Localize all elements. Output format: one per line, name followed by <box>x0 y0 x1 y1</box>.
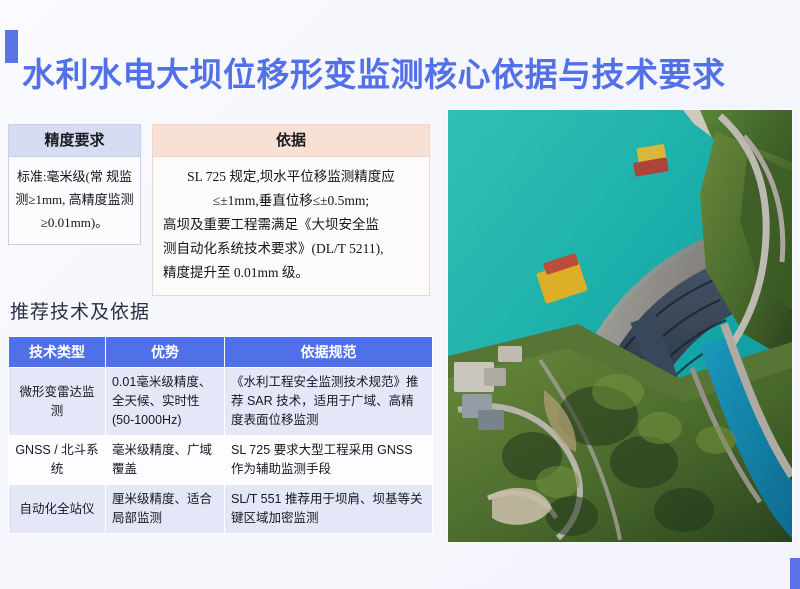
cell-advantage: 0.01毫米级精度、全天候、实时性(50-1000Hz) <box>106 368 225 436</box>
basis-line-4: 测自动化系统技术要求》(DL/T 5211), <box>163 237 419 261</box>
table-row: GNSS / 北斗系统 毫米级精度、广域覆盖 SL 725 要求大型工程采用 G… <box>9 436 433 485</box>
cell-standard: SL/T 551 推荐用于坝肩、坝基等关键区域加密监测 <box>225 485 433 534</box>
decoration-top-left-bar <box>5 30 18 63</box>
accuracy-line-1: 标准:毫米级(常 <box>17 169 103 184</box>
basis-line-5: 精度提升至 0.01mm 级。 <box>163 261 419 285</box>
accuracy-requirement-header: 精度要求 <box>9 125 140 157</box>
cell-tech-type: GNSS / 北斗系统 <box>9 436 106 485</box>
cell-tech-type: 微形变雷达监测 <box>9 368 106 436</box>
cell-standard: 《水利工程安全监测技术规范》推荐 SAR 技术，适用于广域、高精度表面位移监测 <box>225 368 433 436</box>
table-row: 微形变雷达监测 0.01毫米级精度、全天候、实时性(50-1000Hz) 《水利… <box>9 368 433 436</box>
slide-canvas: 水利水电大坝位移形变监测核心依据与技术要求 精度要求 标准:毫米级(常 规监测≥… <box>0 0 800 589</box>
basis-card: 依据 SL 725 规定,坝水平位移监测精度应 ≤±1mm,垂直位移≤±0.5m… <box>152 124 430 296</box>
basis-line-2: ≤±1mm,垂直位移≤±0.5mm; <box>163 189 419 213</box>
decoration-bottom-right-bar <box>790 558 800 589</box>
cell-standard: SL 725 要求大型工程采用 GNSS 作为辅助监测手段 <box>225 436 433 485</box>
cell-advantage: 厘米级精度、适合局部监测 <box>106 485 225 534</box>
accuracy-line-3: 高精度监测 <box>69 192 134 207</box>
section-heading-recommended-tech: 推荐技术及依据 <box>10 300 150 326</box>
accuracy-requirement-body: 标准:毫米级(常 规监测≥1mm, 高精度监测 ≥0.01mm)。 <box>9 157 140 244</box>
table-header-row: 技术类型 优势 依据规范 <box>9 337 433 368</box>
column-header-tech-type: 技术类型 <box>9 337 106 368</box>
cell-advantage: 毫米级精度、广域覆盖 <box>106 436 225 485</box>
cell-tech-type: 自动化全站仪 <box>9 485 106 534</box>
dam-aerial-illustration <box>448 110 792 542</box>
accuracy-requirement-card: 精度要求 标准:毫米级(常 规监测≥1mm, 高精度监测 ≥0.01mm)。 <box>8 124 141 245</box>
basis-body: SL 725 规定,坝水平位移监测精度应 ≤±1mm,垂直位移≤±0.5mm; … <box>153 157 429 295</box>
recommended-tech-table: 技术类型 优势 依据规范 微形变雷达监测 0.01毫米级精度、全天候、实时性(5… <box>8 336 433 534</box>
column-header-standard: 依据规范 <box>225 337 433 368</box>
column-header-advantage: 优势 <box>106 337 225 368</box>
page-title: 水利水电大坝位移形变监测核心依据与技术要求 <box>22 54 782 98</box>
dam-aerial-photo <box>448 110 792 542</box>
accuracy-line-4: ≥0.01mm)。 <box>41 215 108 230</box>
basis-header: 依据 <box>153 125 429 157</box>
table-row: 自动化全站仪 厘米级精度、适合局部监测 SL/T 551 推荐用于坝肩、坝基等关… <box>9 485 433 534</box>
basis-line-3: 高坝及重要工程需满足《大坝安全监 <box>163 213 419 237</box>
basis-line-1: SL 725 规定,坝水平位移监测精度应 <box>163 165 419 189</box>
